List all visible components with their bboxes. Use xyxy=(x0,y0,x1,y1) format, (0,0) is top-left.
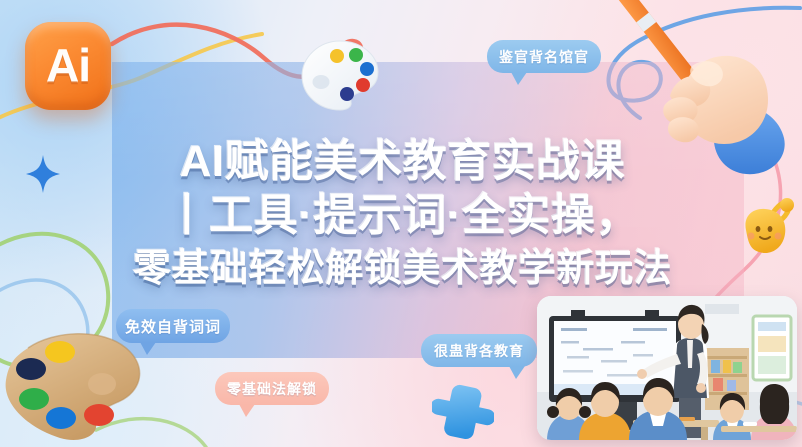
speech-bubble-mid-left-label: 免效自背词词 xyxy=(125,316,221,337)
speech-bubble-top-right-label: 鉴官背名馆官 xyxy=(499,47,589,67)
title-line-1: AI赋能美术教育实战课 xyxy=(110,135,695,189)
speech-bubble-bottom-mid[interactable]: 很蛊背各教育 xyxy=(421,334,537,367)
speech-bubble-bottom-left[interactable]: 零基础法解锁 xyxy=(215,372,329,405)
classroom-photo xyxy=(537,296,797,440)
sparkle-star-icon xyxy=(26,155,60,193)
title-line-3: 零基础轻松解锁美术教学新玩法 xyxy=(110,245,695,293)
yellow-mascot-icon xyxy=(737,196,799,266)
speech-bubble-bottom-mid-label: 很蛊背各教育 xyxy=(434,341,524,361)
ai-app-icon: Ai xyxy=(25,22,111,110)
title-line-2: 丨工具·提示词·全实操， xyxy=(110,189,695,243)
speech-bubble-top-right[interactable]: 鉴官背名馆官 xyxy=(487,40,601,73)
course-promo-banner: Ai xyxy=(0,0,802,447)
banner-title: AI赋能美术教育实战课 丨工具·提示词·全实操， 零基础轻松解锁美术教学新玩法 xyxy=(110,135,695,293)
blue-cross-icon xyxy=(432,380,494,442)
white-palette-icon xyxy=(299,38,381,112)
ai-icon-label: Ai xyxy=(46,42,90,88)
speech-bubble-bottom-left-label: 零基础法解锁 xyxy=(227,379,317,399)
speech-bubble-mid-left[interactable]: 免效自背词词 xyxy=(116,309,230,343)
